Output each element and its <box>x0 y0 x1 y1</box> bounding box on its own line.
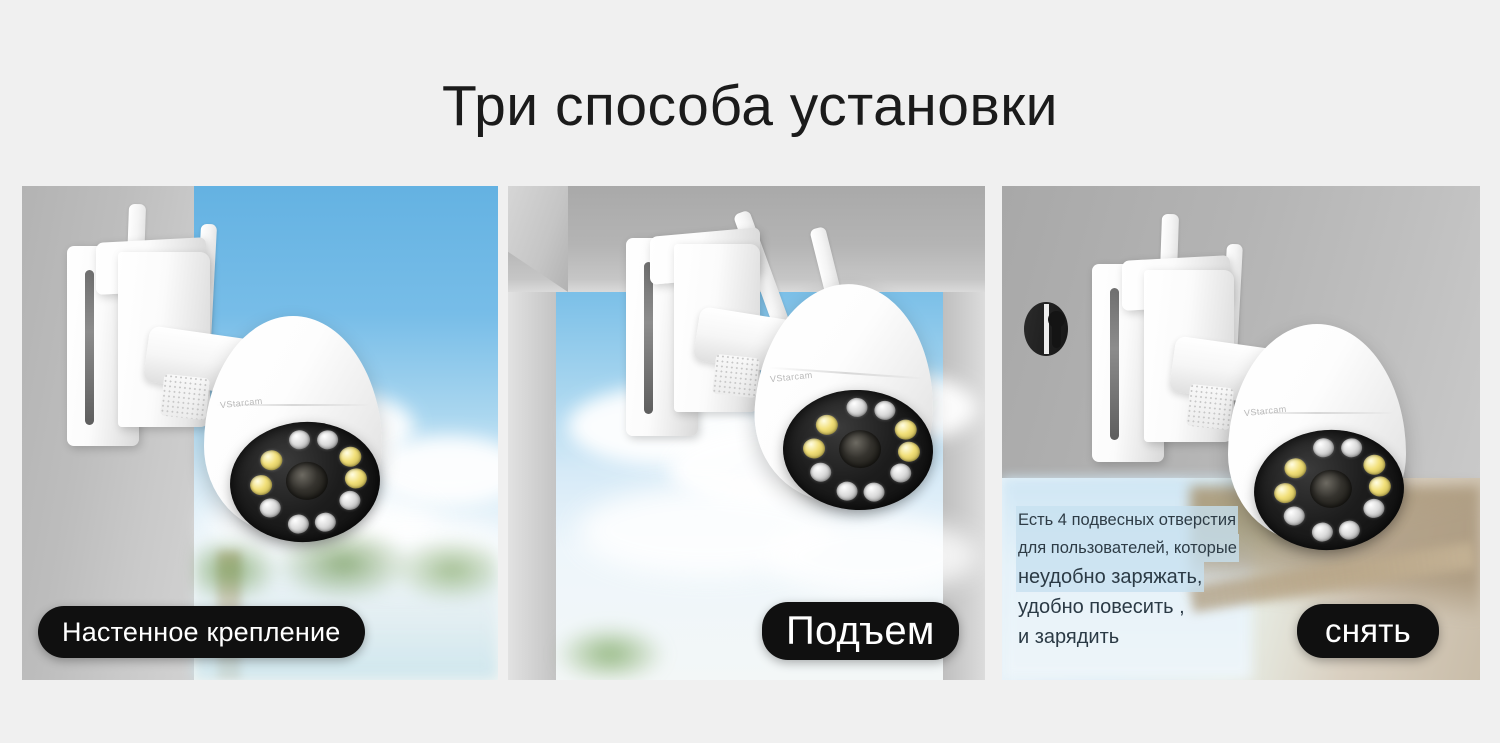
panel-caption-detach[interactable]: снять <box>1297 604 1439 658</box>
note-line: неудобно заряжать, <box>1016 562 1204 592</box>
bracket-slot <box>85 270 94 425</box>
speaker-grille <box>712 354 760 398</box>
led <box>846 398 868 418</box>
led <box>249 474 272 495</box>
panel-caption-lift[interactable]: Подъем <box>762 602 959 660</box>
led <box>316 430 338 450</box>
led <box>1368 476 1391 497</box>
speaker-grille <box>160 374 210 421</box>
panel-lift[interactable]: VStarcam Подъем <box>508 186 985 680</box>
led <box>874 401 896 421</box>
led <box>898 441 921 462</box>
hanging-holes-note: Есть 4 подвесных отверстия для пользоват… <box>1016 506 1316 652</box>
led <box>1273 482 1296 503</box>
led <box>339 490 361 510</box>
led <box>259 498 281 518</box>
bracket-slot <box>644 262 653 414</box>
lens <box>1309 468 1354 509</box>
page-title: Три способа установки <box>0 74 1500 138</box>
note-line: и зарядить <box>1016 622 1121 652</box>
led <box>339 446 362 467</box>
led <box>260 450 283 471</box>
led <box>1363 498 1385 518</box>
speaker-grille <box>1186 384 1234 430</box>
lens <box>285 460 330 501</box>
led <box>344 468 367 489</box>
led <box>836 481 858 501</box>
led <box>890 463 912 483</box>
promo-page: Три способа установки <box>0 0 1500 743</box>
led <box>287 514 309 534</box>
led <box>1340 438 1362 458</box>
note-line: удобно повесить , <box>1016 592 1187 622</box>
panels-row: VStarcam Настенное крепление <box>22 186 1480 680</box>
led <box>1312 438 1334 458</box>
note-line: Есть 4 подвесных отверстия <box>1016 506 1238 534</box>
panel-detach[interactable]: VStarcam Есть 4 подвесных отверстия <box>1002 186 1480 680</box>
led <box>288 430 310 450</box>
bracket-slot <box>1110 288 1119 440</box>
panel-caption-wall-mount[interactable]: Настенное крепление <box>38 606 365 658</box>
led <box>1363 454 1386 475</box>
led <box>803 438 826 459</box>
led <box>1284 458 1307 479</box>
led <box>816 415 839 436</box>
led <box>810 462 832 482</box>
panel-wall-mount[interactable]: VStarcam Настенное крепление <box>22 186 498 680</box>
led <box>314 512 336 532</box>
led <box>863 482 885 502</box>
led <box>1338 520 1360 540</box>
led <box>894 419 917 440</box>
lens <box>838 429 881 468</box>
note-line: для пользователей, которые <box>1016 534 1239 562</box>
